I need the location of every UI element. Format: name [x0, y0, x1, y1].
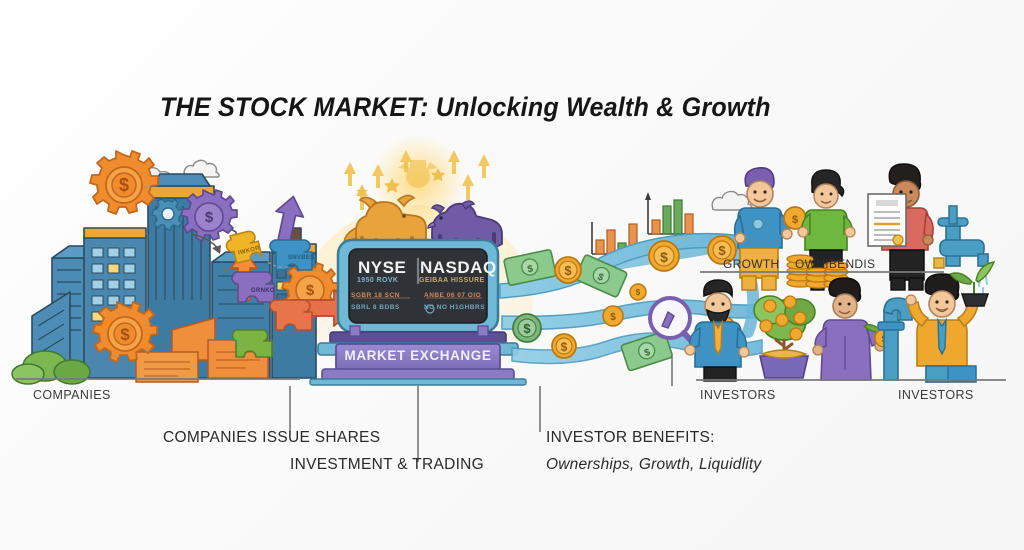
label-companies: COMPANIES — [33, 388, 111, 402]
label-investors-right: INVESTORS — [898, 388, 974, 402]
ticker-nyse-subtitle: 1950 ROVK — [357, 277, 398, 284]
infographic-canvas: $ $ $ — [0, 0, 1024, 550]
svg-text:$: $ — [636, 288, 641, 297]
svg-text:$: $ — [718, 243, 726, 258]
svg-text:$: $ — [523, 321, 531, 336]
small-bar-chart-right — [645, 192, 700, 234]
illustration-artboard: $ $ $ — [0, 0, 1024, 550]
svg-text:$: $ — [205, 209, 214, 226]
svg-text:$: $ — [792, 214, 798, 226]
certificate-icon — [868, 194, 906, 246]
caption-investor-benefits: INVESTOR BENEFITS: — [546, 429, 715, 447]
money-tree-icon — [754, 296, 815, 378]
label-investors-left: INVESTORS — [700, 388, 776, 402]
svg-text:$: $ — [610, 312, 616, 323]
svg-text:$: $ — [561, 340, 568, 354]
investor-person-bearded — [685, 280, 749, 381]
svg-text:$: $ — [564, 263, 572, 278]
page-title: THE STOCK MARKET: Unlocking Wealth & Gro… — [160, 92, 771, 123]
ticker-row-left-2: SBRL 8 BDBS — [351, 304, 400, 311]
caption-benefits-list: Ownerships, Growth, Liquidlity — [546, 456, 761, 474]
svg-text:$: $ — [120, 325, 130, 344]
label-ownership: OWNIBENDIS — [795, 257, 875, 271]
exchange-board-screen — [338, 240, 498, 332]
svg-text:$: $ — [119, 175, 129, 195]
ticker-nyse: NYSE — [358, 258, 406, 278]
gear-icon-large-orange: $ — [90, 151, 158, 214]
caption-companies-issue-shares: COMPANIES ISSUE SHARES — [163, 429, 380, 447]
ticker-row-right-2: NC NO H1GHBRS — [424, 304, 485, 311]
market-exchange-label: MARKET EXCHANGE — [341, 348, 495, 363]
ticker-nasdaq: NASDAQ — [420, 258, 497, 278]
label-growth: GROWTH — [723, 257, 779, 271]
puzzle-label-purple: GRNKO — [251, 288, 275, 294]
ticker-row-left-1: SGBR 18 SCN — [351, 292, 400, 299]
svg-text:$: $ — [306, 282, 315, 299]
puzzle-label-blue: SNVBES — [288, 255, 314, 261]
ticker-nasdaq-subtitle: GEIBAA HISSURE — [419, 277, 485, 284]
caption-investment-trading: INVESTMENT & TRADING — [290, 456, 484, 474]
ticker-row-right-1: ANBE 06 07 OIO — [424, 292, 481, 299]
svg-text:$: $ — [660, 249, 668, 265]
